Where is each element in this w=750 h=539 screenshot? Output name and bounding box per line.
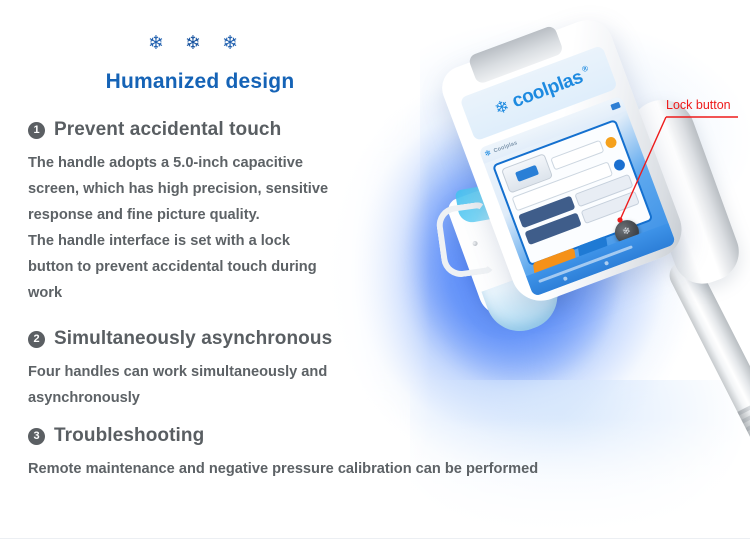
feature-body-line: screen, which has high precision, sensit…: [28, 176, 328, 202]
number-badge: 3: [28, 428, 45, 445]
snowflake-icon: ❄: [222, 34, 238, 53]
feature-body-line: The handle adopts a 5.0-inch capacitive: [28, 150, 328, 176]
feature-title: Troubleshooting: [54, 425, 204, 447]
snowflake-icon: ❄: [148, 34, 164, 53]
battery-icon: [610, 102, 621, 111]
device-cable: [659, 252, 750, 539]
screen-status-dot-blue[interactable]: [612, 158, 626, 172]
feature-body-line: asynchronously: [28, 385, 332, 411]
registered-mark-icon: ®: [581, 64, 589, 74]
feature-heading: 1 Prevent accidental touch: [28, 119, 328, 141]
snowflake-icon: ❄: [492, 97, 511, 118]
screen-topbar-label: Coolplas: [493, 140, 518, 154]
feature-section-1: 1 Prevent accidental touch The handle ad…: [28, 119, 328, 306]
callout-label: Lock button: [666, 98, 731, 112]
feature-body-line: The handle interface is set with a lock: [28, 228, 328, 254]
cable-tube: [665, 255, 750, 537]
brand-name: coolplas®: [509, 67, 586, 113]
screen-footer-pin: [604, 261, 609, 266]
feature-body-line: work: [28, 280, 328, 306]
feature-body: Four handles can work simultaneously and…: [28, 359, 332, 411]
number-badge: 1: [28, 122, 45, 139]
snowflake-icon: ❄: [484, 149, 493, 159]
feature-body-line: button to prevent accidental touch durin…: [28, 254, 328, 280]
feature-body-line: Four handles can work simultaneously and: [28, 359, 332, 385]
feature-title: Prevent accidental touch: [54, 119, 281, 141]
brand-name-text: coolplas: [509, 67, 586, 113]
feature-section-2: 2 Simultaneously asynchronous Four handl…: [28, 328, 332, 411]
screen-status-dot-orange[interactable]: [604, 135, 618, 149]
content-column: ❄ ❄ ❄ Humanized design 1 Prevent acciden…: [0, 0, 470, 539]
lock-button-callout: Lock button: [648, 98, 750, 228]
promo-page: ❄ ❄ ❄ Humanized design 1 Prevent acciden…: [0, 0, 750, 539]
feature-body: The handle adopts a 5.0-inch capacitive …: [28, 150, 328, 306]
screen-footer-pin: [563, 276, 568, 281]
number-badge: 2: [28, 331, 45, 348]
cable-shading: [737, 397, 750, 536]
feature-body-line: response and fine picture quality.: [28, 202, 328, 228]
feature-heading: 2 Simultaneously asynchronous: [28, 328, 332, 350]
callout-leader-line: [648, 98, 750, 228]
device-illustration: ❄ coolplas® ❄ Coolplas: [448, 16, 750, 539]
feature-title: Simultaneously asynchronous: [54, 328, 332, 350]
snowflake-icon: ❄: [185, 34, 201, 53]
snowflake-row: ❄ ❄ ❄: [148, 34, 238, 53]
page-title: Humanized design: [0, 70, 400, 94]
